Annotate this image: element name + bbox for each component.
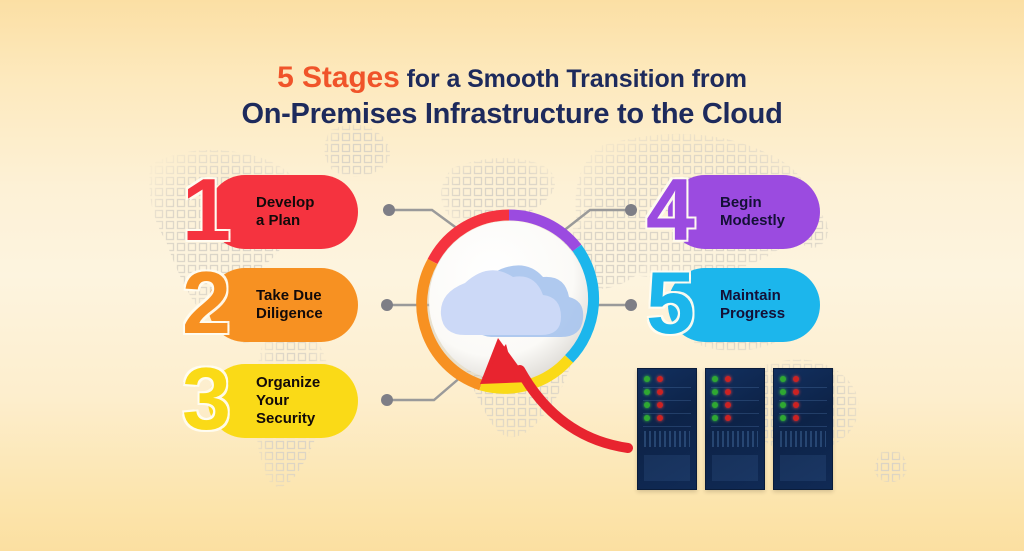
led-row <box>712 389 731 395</box>
status-led-red <box>725 415 731 421</box>
led-row <box>780 389 799 395</box>
rack-divider <box>643 400 691 401</box>
status-led-red <box>657 389 663 395</box>
status-led-red <box>725 389 731 395</box>
status-led-green <box>644 415 650 421</box>
rack-vent-slots <box>644 431 690 447</box>
stage-number-4: 4 <box>646 166 692 254</box>
stage-badge-2[interactable]: 2 Take Due Diligence <box>208 268 358 342</box>
connector-dot-stage-4 <box>625 204 637 216</box>
stage-label-1: Develop a Plan <box>256 194 314 231</box>
led-row <box>712 376 731 382</box>
status-led-green <box>712 376 718 382</box>
connector-dot-stage-2 <box>381 299 393 311</box>
server-rack <box>773 368 833 490</box>
title-accent-text: 5 Stages <box>277 61 400 94</box>
led-row <box>644 402 663 408</box>
status-led-red <box>725 402 731 408</box>
led-row <box>644 389 663 395</box>
status-led-green <box>644 402 650 408</box>
status-led-green <box>712 402 718 408</box>
page-title: 5 Stages for a Smooth Transition from On… <box>0 62 1024 131</box>
status-led-green <box>780 402 786 408</box>
rack-divider <box>643 426 691 427</box>
stage-label-5: Maintain Progress <box>720 287 785 324</box>
server-rack <box>705 368 765 490</box>
stage-number-3: 3 <box>182 355 228 443</box>
rack-divider <box>711 413 759 414</box>
stage-label-4: Begin Modestly <box>720 194 785 231</box>
led-row <box>780 415 799 421</box>
cloud-hub <box>409 203 609 403</box>
connector-dot-stage-3 <box>381 394 393 406</box>
status-led-green <box>780 389 786 395</box>
status-led-red <box>793 376 799 382</box>
status-led-red <box>793 402 799 408</box>
stage-number-5: 5 <box>646 259 692 347</box>
rack-divider <box>643 387 691 388</box>
rack-divider <box>643 413 691 414</box>
stage-badge-4[interactable]: 4 Begin Modestly <box>668 175 820 249</box>
status-led-green <box>712 415 718 421</box>
title-line-2: On-Premises Infrastructure to the Cloud <box>0 99 1024 130</box>
status-led-green <box>644 389 650 395</box>
connector-dot-stage-1 <box>383 204 395 216</box>
status-led-red <box>657 402 663 408</box>
status-led-red <box>725 376 731 382</box>
infographic-canvas: 5 Stages for a Smooth Transition from On… <box>0 0 1024 551</box>
rack-divider <box>711 387 759 388</box>
rack-divider <box>779 387 827 388</box>
stage-number-1: 1 <box>182 166 228 254</box>
title-line-1-rest: for a Smooth Transition from <box>400 65 747 93</box>
rack-divider <box>711 400 759 401</box>
connector-dot-stage-5 <box>625 299 637 311</box>
rack-divider <box>779 426 827 427</box>
rack-panel <box>644 455 690 481</box>
stage-label-2: Take Due Diligence <box>256 287 323 324</box>
status-led-green <box>780 415 786 421</box>
rack-led-panel <box>780 376 799 421</box>
led-row <box>644 376 663 382</box>
rack-panel <box>780 455 826 481</box>
stage-badge-5[interactable]: 5 Maintain Progress <box>668 268 820 342</box>
led-row <box>712 415 731 421</box>
led-row <box>644 415 663 421</box>
status-led-green <box>712 389 718 395</box>
rack-vent-slots <box>780 431 826 447</box>
led-row <box>712 402 731 408</box>
led-row <box>780 402 799 408</box>
title-line-1: 5 Stages for a Smooth Transition from <box>0 62 1024 94</box>
rack-divider <box>779 413 827 414</box>
status-led-green <box>644 376 650 382</box>
stage-badge-3[interactable]: 3 Organize Your Security <box>208 364 358 438</box>
rack-divider <box>711 426 759 427</box>
rack-led-panel <box>712 376 731 421</box>
status-led-red <box>657 376 663 382</box>
status-led-red <box>793 389 799 395</box>
stage-badge-1[interactable]: 1 Develop a Plan <box>208 175 358 249</box>
rack-divider <box>779 400 827 401</box>
server-rack-group <box>637 368 833 490</box>
rack-led-panel <box>644 376 663 421</box>
status-led-red <box>657 415 663 421</box>
stage-number-2: 2 <box>182 259 228 347</box>
rack-vent-slots <box>712 431 758 447</box>
status-led-green <box>780 376 786 382</box>
led-row <box>780 376 799 382</box>
stage-label-3: Organize Your Security <box>256 374 320 429</box>
status-led-red <box>793 415 799 421</box>
rack-panel <box>712 455 758 481</box>
server-rack <box>637 368 697 490</box>
